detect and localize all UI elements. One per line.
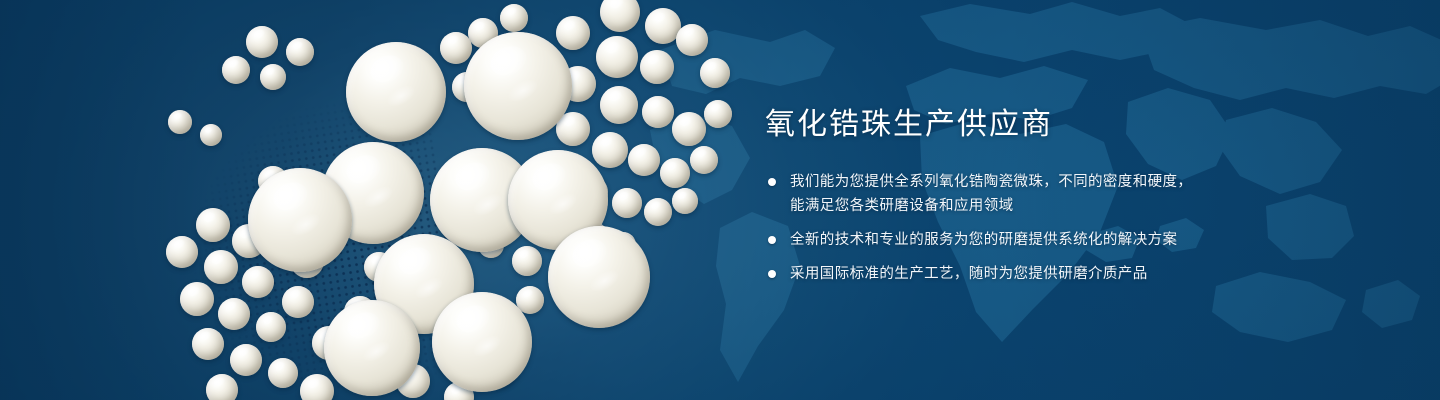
list-item-line: 我们能为您提供全系列氧化锆陶瓷微珠，不同的密度和硬度， [790,170,1405,195]
list-item: 全新的技术和专业的服务为您的研磨提供系统化的解决方案 [765,228,1405,253]
list-item-line: 采用国际标准的生产工艺，随时为您提供研磨介质产品 [790,262,1405,287]
bullet-dot-icon [768,178,776,186]
feature-list: 我们能为您提供全系列氧化锆陶瓷微珠，不同的密度和硬度， 能满足您各类研磨设备和应… [765,170,1405,288]
list-item-line: 能满足您各类研磨设备和应用领域 [790,194,1405,219]
list-item-line: 全新的技术和专业的服务为您的研磨提供系统化的解决方案 [790,228,1405,253]
list-item: 采用国际标准的生产工艺，随时为您提供研磨介质产品 [765,262,1405,287]
hero-banner: 氧化锆珠生产供应商 我们能为您提供全系列氧化锆陶瓷微珠，不同的密度和硬度， 能满… [0,0,1440,400]
bullet-dot-icon [768,236,776,244]
banner-text-block: 氧化锆珠生产供应商 我们能为您提供全系列氧化锆陶瓷微珠，不同的密度和硬度， 能满… [765,106,1405,287]
list-item: 我们能为您提供全系列氧化锆陶瓷微珠，不同的密度和硬度， 能满足您各类研磨设备和应… [765,170,1405,220]
zirconia-beads-photo [0,0,760,400]
page-title: 氧化锆珠生产供应商 [765,106,1405,144]
bullet-dot-icon [768,270,776,278]
